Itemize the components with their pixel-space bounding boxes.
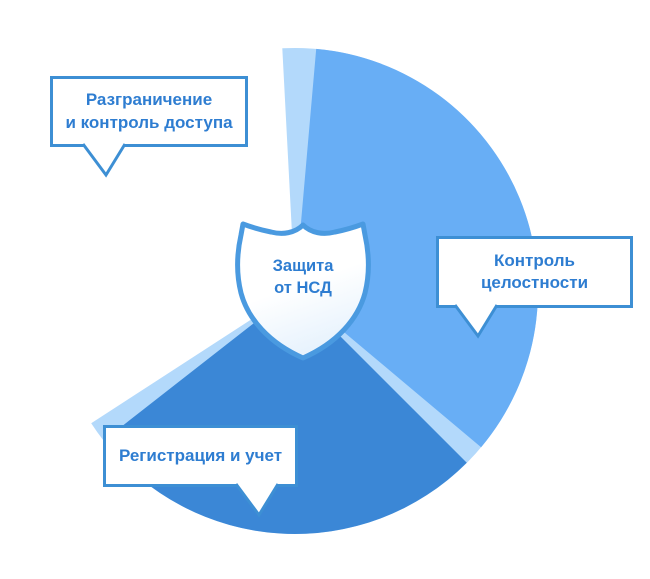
callout-registration-accounting-label: Регистрация и учет xyxy=(111,445,290,467)
diagram-canvas: Разграничение и контроль доступа Контрол… xyxy=(0,0,650,579)
callout-access-control-label: Разграничение и контроль доступа xyxy=(57,89,240,134)
shield-badge[interactable]: Защита от НСД xyxy=(227,219,379,363)
callout-registration-accounting[interactable]: Регистрация и учет xyxy=(103,425,298,487)
callout-integrity-control-label: Контроль целостности xyxy=(473,250,596,295)
callout-integrity-control[interactable]: Контроль целостности xyxy=(436,236,633,308)
shield-label: Защита от НСД xyxy=(227,255,379,300)
callout-access-control[interactable]: Разграничение и контроль доступа xyxy=(50,76,248,147)
